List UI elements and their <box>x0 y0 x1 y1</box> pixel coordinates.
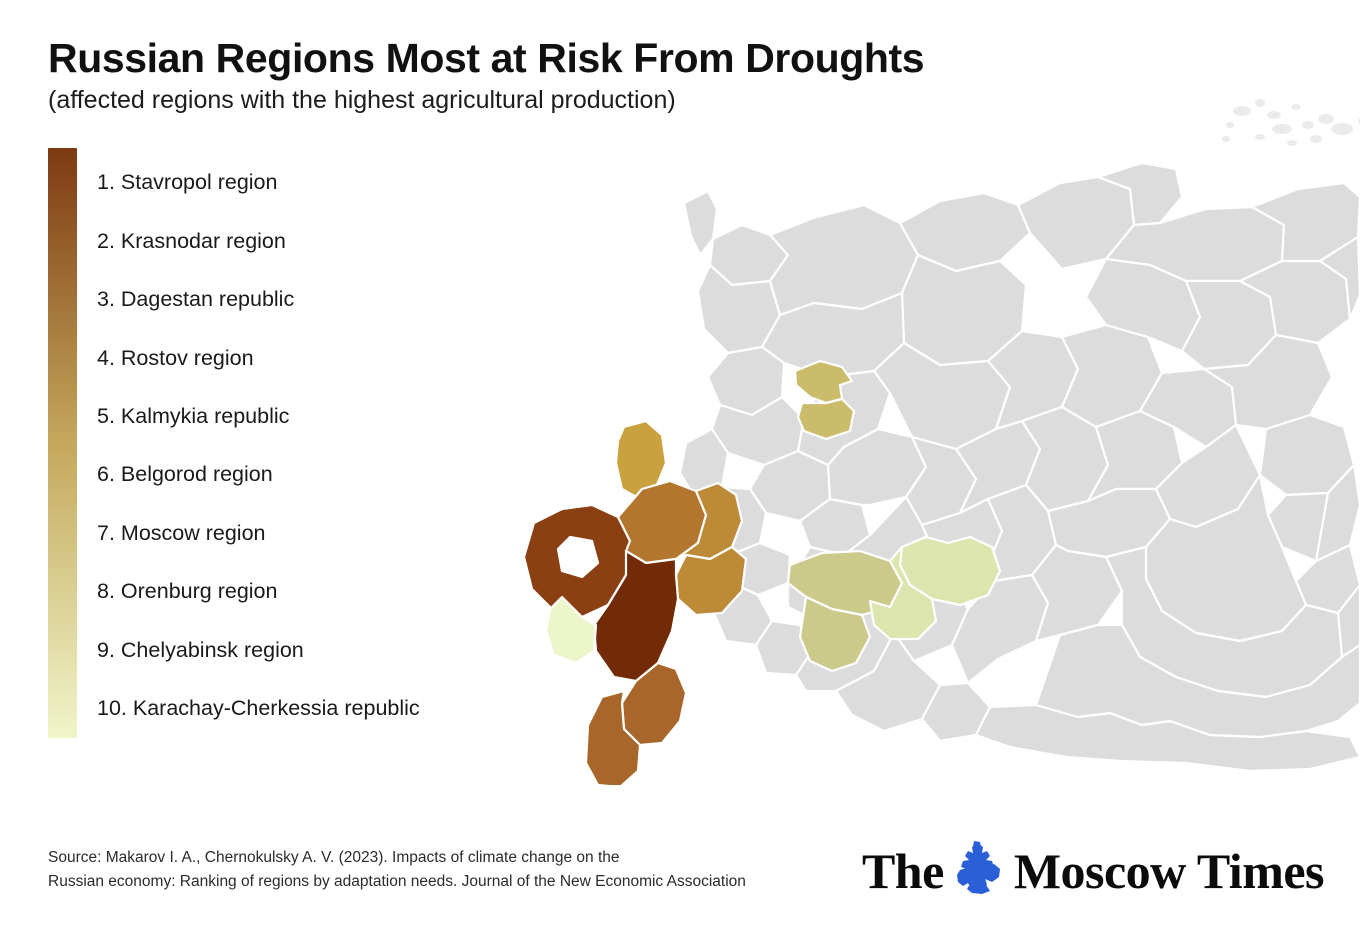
source-line-2: Russian economy: Ranking of regions by a… <box>48 870 746 894</box>
legend: 1. Stavropol region 2. Krasnodar region … <box>48 148 420 738</box>
logo-moscow-times-text: Moscow Times <box>1014 846 1324 896</box>
map-svg <box>470 85 1360 785</box>
map-region-moscow-2 <box>798 399 854 439</box>
legend-item-moscow: 7. Moscow region <box>97 504 420 562</box>
moscow-times-logo: The Moscow Times <box>862 840 1324 902</box>
legend-item-belgorod: 6. Belgorod region <box>97 446 420 504</box>
st-george-emblem-icon <box>952 840 1006 896</box>
source-citation: Source: Makarov I. A., Chernokulsky A. V… <box>48 846 746 894</box>
legend-item-krasnodar: 2. Krasnodar region <box>97 212 420 270</box>
legend-color-gradient-bar <box>48 148 77 738</box>
arctic-islands <box>1222 99 1360 146</box>
legend-item-rostov: 4. Rostov region <box>97 329 420 387</box>
map-base-regions <box>680 163 1360 771</box>
legend-item-dagestan: 3. Dagestan republic <box>97 271 420 329</box>
logo-the-text: The <box>862 846 944 896</box>
source-line-1: Source: Makarov I. A., Chernokulsky A. V… <box>48 846 746 870</box>
legend-item-chelyabinsk: 9. Chelyabinsk region <box>97 621 420 679</box>
legend-item-list: 1. Stavropol region 2. Krasnodar region … <box>97 148 420 738</box>
page-title: Russian Regions Most at Risk From Drough… <box>48 36 1048 80</box>
legend-item-orenburg: 8. Orenburg region <box>97 563 420 621</box>
russia-choropleth-map <box>470 85 1360 785</box>
legend-item-kalmykia: 5. Kalmykia republic <box>97 388 420 446</box>
legend-item-stavropol: 1. Stavropol region <box>97 154 420 212</box>
legend-item-karachay-cherkessia: 10. Karachay-Cherkessia republic <box>97 680 420 738</box>
